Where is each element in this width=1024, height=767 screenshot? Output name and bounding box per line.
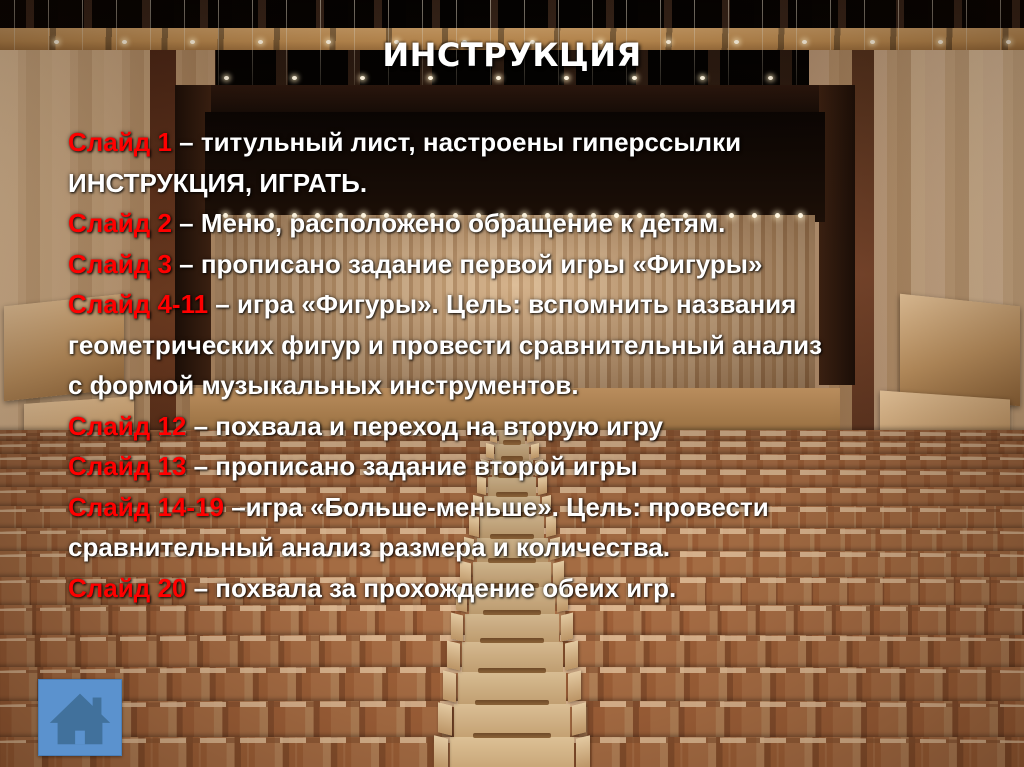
seat-armrest (443, 670, 456, 702)
slide-number-label: Слайд 20 (68, 573, 186, 603)
instruction-line: геометрических фигур и провести сравните… (68, 325, 968, 366)
instruction-line-text: геометрических фигур и провести сравните… (68, 330, 822, 360)
instruction-line-text: сравнительный анализ размера и количеств… (68, 532, 670, 562)
aisle-segment (458, 672, 567, 704)
instruction-line: Слайд 13 – прописано задание второй игры (68, 446, 968, 487)
instruction-line-text: –игра «Больше-меньше». Цель: провести (224, 492, 769, 522)
slide-number-label: Слайд 13 (68, 451, 186, 481)
seat-armrest (561, 612, 573, 640)
slide-number-label: Слайд 12 (68, 411, 186, 441)
home-icon (39, 680, 121, 755)
aisle-step (480, 638, 544, 643)
seat-armrest (576, 735, 590, 767)
instruction-line-text: – титульный лист, настроены гиперссылки (172, 127, 741, 157)
seat-armrest (434, 735, 448, 767)
home-button[interactable] (38, 679, 122, 756)
instruction-line: Слайд 3 – прописано задание первой игры … (68, 244, 968, 285)
slide-number-label: Слайд 14-19 (68, 492, 224, 522)
instruction-line: Слайд 4-11 – игра «Фигуры». Цель: вспомн… (68, 284, 968, 325)
instruction-line-text: – игра «Фигуры». Цель: вспомнить названи… (208, 289, 796, 319)
instruction-line-text: – похвала и переход на вторую игру (186, 411, 663, 441)
aisle-segment (450, 737, 574, 767)
seat-armrest (451, 612, 463, 640)
instruction-line: сравнительный анализ размера и количеств… (68, 527, 968, 568)
instruction-line: Слайд 20 – похвала за прохождение обеих … (68, 568, 968, 609)
instruction-line-text: ИНСТРУКЦИЯ, ИГРАТЬ. (68, 168, 367, 198)
instruction-line: с формой музыкальных инструментов. (68, 365, 968, 406)
slide-number-label: Слайд 3 (68, 249, 172, 279)
aisle-segment (454, 704, 570, 737)
seat-armrest (565, 640, 578, 670)
instruction-line-text: – прописано задание второй игры (186, 451, 637, 481)
aisle-step (478, 668, 547, 673)
slide-number-label: Слайд 4-11 (68, 289, 208, 319)
slide-number-label: Слайд 1 (68, 127, 172, 157)
instruction-text-block: Слайд 1 – титульный лист, настроены гипе… (68, 122, 968, 608)
ceiling-rigging (0, 0, 1024, 30)
seat-armrest (438, 702, 452, 735)
aisle-step (475, 700, 549, 705)
presentation-slide: ИНСТРУКЦИЯ Слайд 1 – титульный лист, нас… (0, 0, 1024, 767)
aisle-step (483, 610, 541, 615)
instruction-line: Слайд 1 – титульный лист, настроены гипе… (68, 122, 968, 163)
seat-armrest (572, 702, 586, 735)
aisle-step (473, 733, 552, 738)
instruction-line-text: с формой музыкальных инструментов. (68, 370, 579, 400)
instruction-line: Слайд 12 – похвала и переход на вторую и… (68, 406, 968, 447)
instruction-line-text: – прописано задание первой игры «Фигуры» (172, 249, 763, 279)
instruction-line: Слайд 14-19 –игра «Больше-меньше». Цель:… (68, 487, 968, 528)
slide-number-label: Слайд 2 (68, 208, 172, 238)
instruction-line: ИНСТРУКЦИЯ, ИГРАТЬ. (68, 163, 968, 204)
instruction-line: Слайд 2 – Меню, расположено обращение к … (68, 203, 968, 244)
seat-armrest (447, 640, 460, 670)
instruction-line-text: – Меню, расположено обращение к детям. (172, 208, 725, 238)
page-title: ИНСТРУКЦИЯ (0, 36, 1024, 74)
seat-armrest (568, 670, 581, 702)
instruction-line-text: – похвала за прохождение обеих игр. (186, 573, 676, 603)
